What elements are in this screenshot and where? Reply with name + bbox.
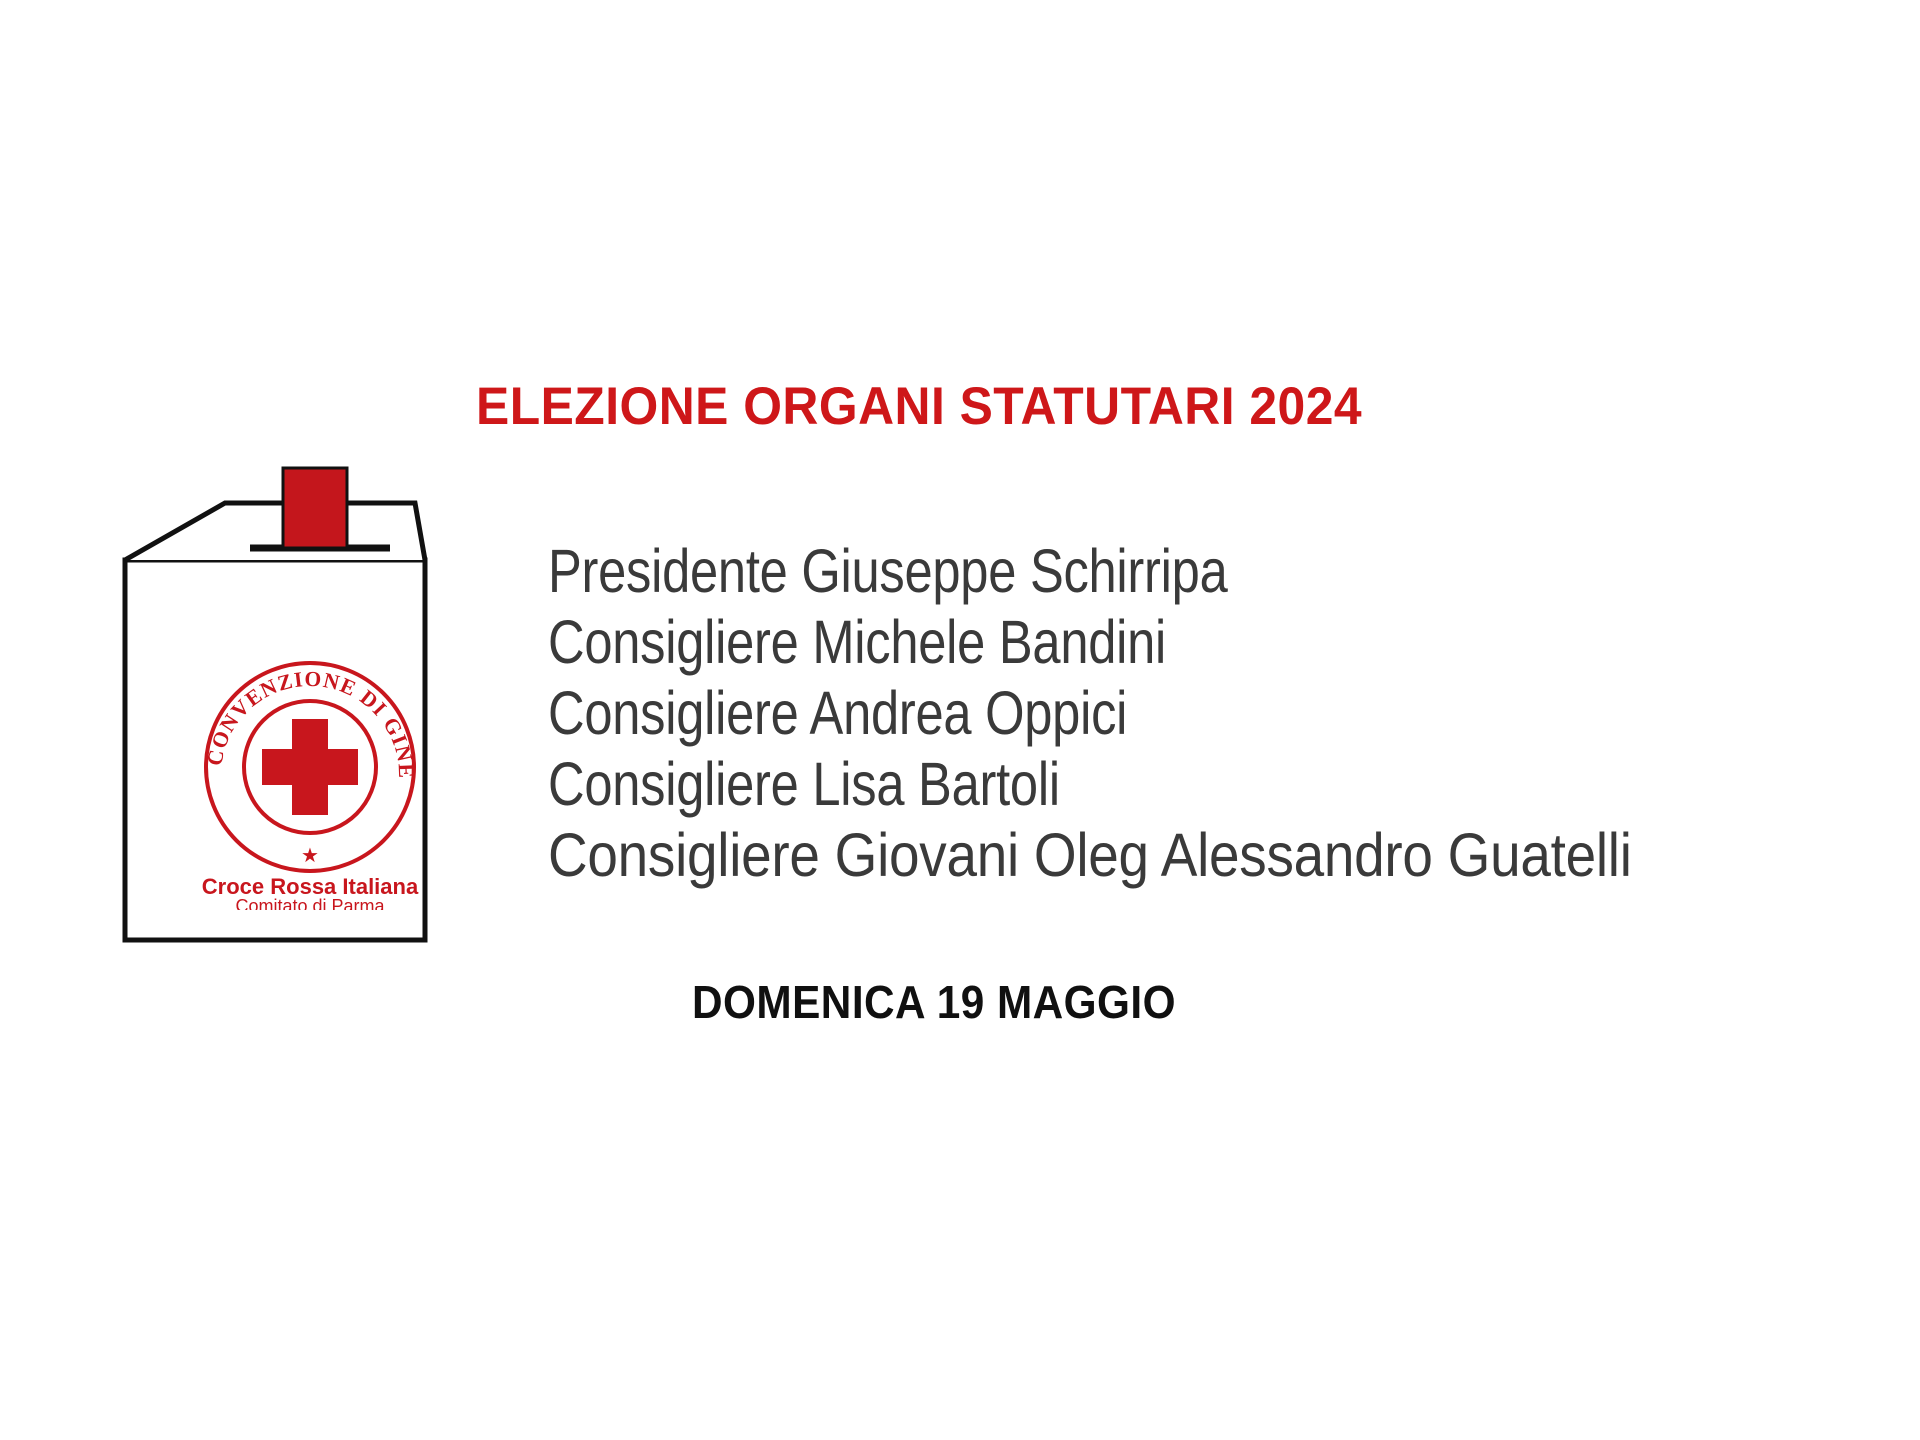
emblem-committee-name: Comitato di Parma xyxy=(235,896,385,910)
officials-list: Presidente Giuseppe Schirripa Consiglier… xyxy=(548,536,1888,891)
red-cross-emblem: CONVENZIONE DI GINEVRA 22 AGOSTO 1864 ★ … xyxy=(180,640,440,910)
emblem-star-icon: ★ xyxy=(301,845,319,867)
list-item: Consigliere Giovani Oleg Alessandro Guat… xyxy=(548,820,1754,891)
list-item: Consigliere Michele Bandini xyxy=(548,607,1660,678)
poster-canvas: ELEZIONE ORGANI STATUTARI 2024 xyxy=(0,0,1920,1440)
list-item: Consigliere Lisa Bartoli xyxy=(548,749,1660,820)
event-date: DOMENICA 19 MAGGIO xyxy=(692,975,1176,1029)
list-item: Consigliere Andrea Oppici xyxy=(548,678,1660,749)
page-title: ELEZIONE ORGANI STATUTARI 2024 xyxy=(476,376,1416,438)
ballot-paper xyxy=(283,468,347,548)
red-cross-icon xyxy=(262,719,358,815)
list-item: Presidente Giuseppe Schirripa xyxy=(548,536,1660,607)
